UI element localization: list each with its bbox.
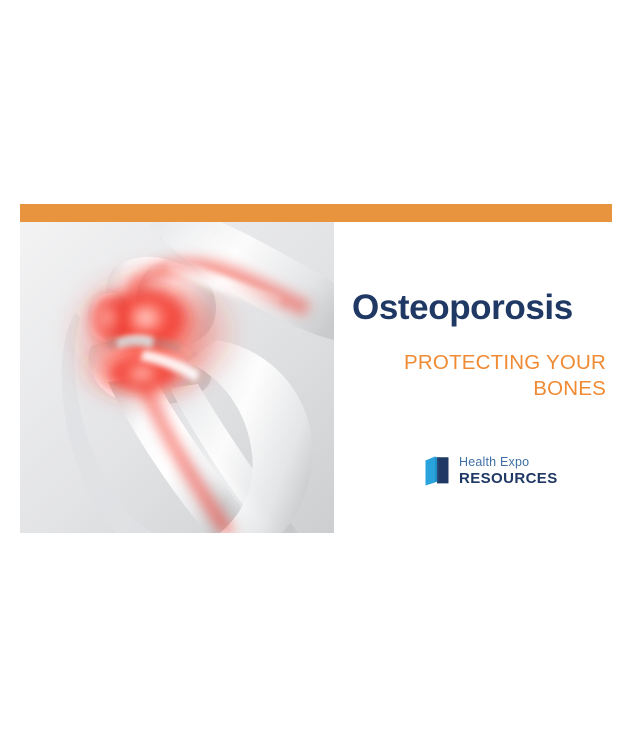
logo-wordmark: Health Expo RESOURCES — [459, 456, 558, 486]
open-book-door-icon — [424, 454, 452, 488]
title-slide: Osteoporosis PROTECTING YOUR BONES Healt… — [0, 0, 633, 737]
logo-line-resources: RESOURCES — [459, 471, 558, 486]
orange-accent-bar — [20, 204, 612, 222]
page-title: Osteoporosis — [352, 286, 606, 330]
title-text-block: Osteoporosis PROTECTING YOUR BONES — [352, 286, 606, 402]
page-subtitle: PROTECTING YOUR BONES — [352, 350, 606, 402]
brand-logo: Health Expo RESOURCES — [424, 454, 558, 488]
logo-line-health-expo: Health Expo — [459, 456, 558, 471]
knee-joint-hero-image — [20, 222, 334, 533]
